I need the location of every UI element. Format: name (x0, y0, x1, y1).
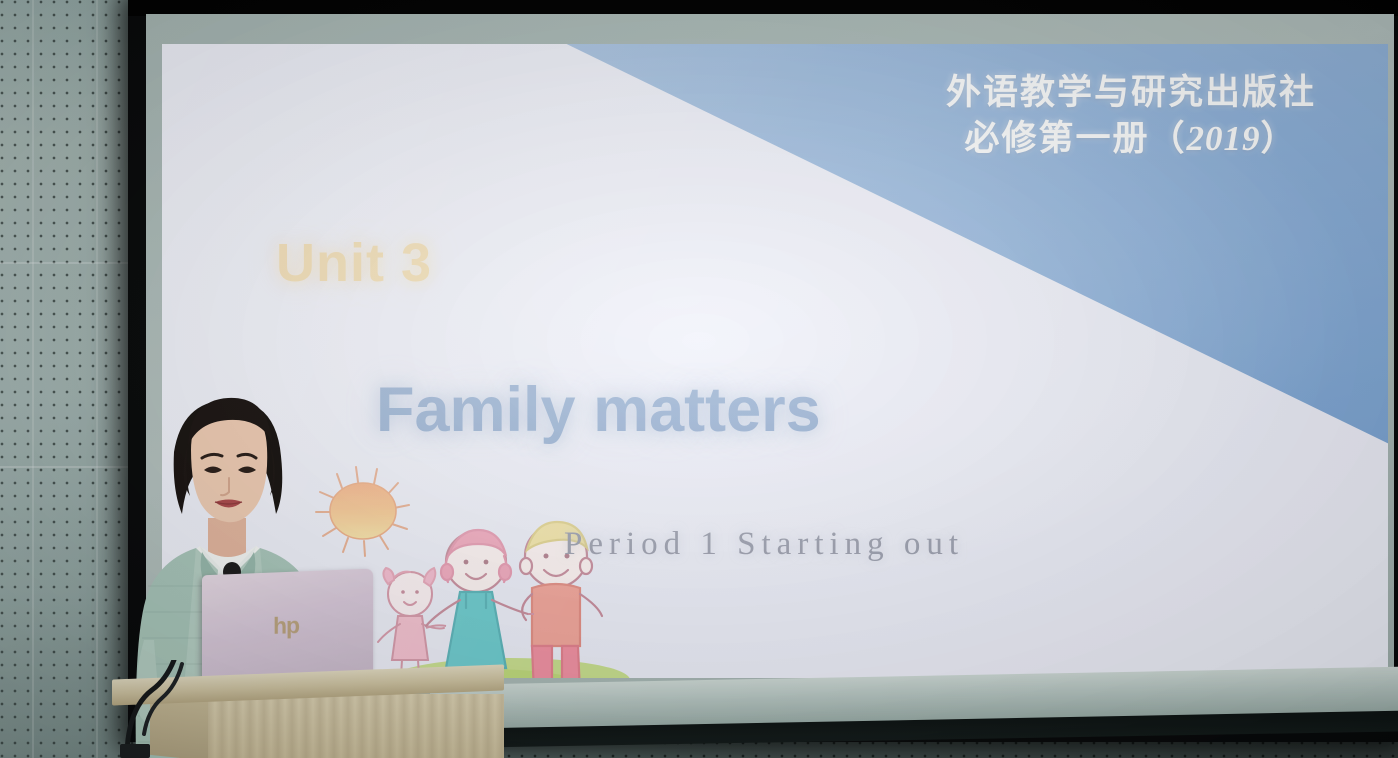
slide-unit-title: Family matters (376, 374, 821, 446)
publisher-line-2: 必修第一册（2019） (946, 116, 1316, 162)
podium-front (208, 694, 504, 758)
hp-logo: hp (273, 612, 299, 640)
publisher-paren-close: ） (1260, 119, 1297, 158)
hp-laptop[interactable]: hp (202, 569, 373, 682)
power-cable (112, 660, 192, 758)
publisher-volume: 必修第一册（ (964, 119, 1186, 158)
mother-figure (426, 530, 528, 678)
screenshot-stage: 外语教学与研究出版社 必修第一册（2019） Unit 3 Family mat… (0, 0, 1398, 758)
slide-period-subtitle: Period 1 Starting out (564, 526, 964, 563)
publisher-credit: 外语教学与研究出版社 必修第一册（2019） (946, 70, 1316, 162)
publisher-year: 2019 (1186, 119, 1260, 158)
slide-unit-label: Unit 3 (276, 232, 432, 294)
publisher-line-1: 外语教学与研究出版社 (946, 70, 1316, 116)
